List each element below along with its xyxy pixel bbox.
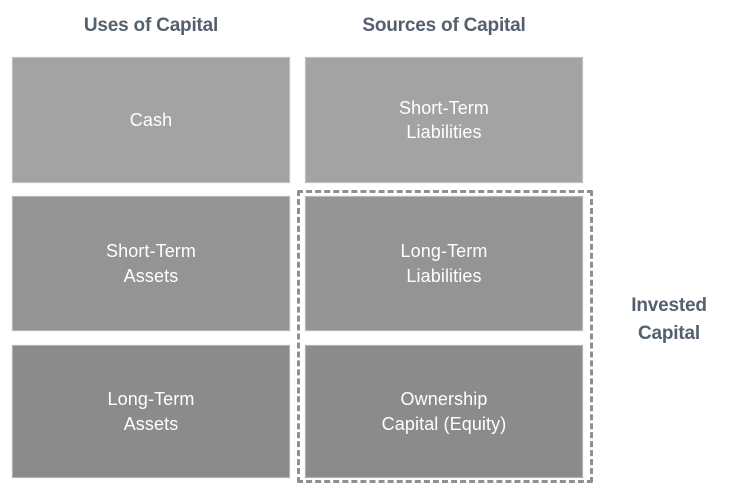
box-long-term-liabilities: Long-Term Liabilities (305, 196, 583, 331)
invested-capital-line1: Invested (631, 295, 707, 316)
column-header-uses-of-capital: Uses of Capital (12, 13, 290, 39)
box-ownership-capital-equity-label: Ownership Capital (Equity) (374, 387, 515, 436)
box-short-term-assets: Short-Term Assets (12, 196, 290, 331)
box-ownership-capital-equity-line2: Capital (Equity) (382, 414, 507, 434)
box-short-term-liabilities-line2: Liabilities (406, 122, 481, 142)
box-ownership-capital-equity-line1: Ownership (401, 389, 488, 409)
box-short-term-liabilities: Short-Term Liabilities (305, 57, 583, 183)
box-short-term-assets-label: Short-Term Assets (98, 239, 204, 288)
box-long-term-assets-label: Long-Term Assets (100, 387, 203, 436)
box-short-term-assets-line1: Short-Term (106, 241, 196, 261)
box-long-term-liabilities-line2: Liabilities (406, 266, 481, 286)
box-short-term-liabilities-line1: Short-Term (399, 98, 489, 118)
box-short-term-assets-line2: Assets (124, 266, 179, 286)
box-ownership-capital-equity: Ownership Capital (Equity) (305, 345, 583, 478)
invested-capital-line2: Capital (638, 323, 700, 344)
box-cash: Cash (12, 57, 290, 183)
box-cash-label: Cash (122, 108, 180, 132)
box-long-term-assets-line1: Long-Term (108, 389, 195, 409)
capital-structure-diagram: Uses of Capital Sources of Capital Cash … (0, 0, 738, 499)
box-long-term-liabilities-line1: Long-Term (401, 241, 488, 261)
box-long-term-assets: Long-Term Assets (12, 345, 290, 478)
box-long-term-liabilities-label: Long-Term Liabilities (393, 239, 496, 288)
box-short-term-liabilities-label: Short-Term Liabilities (391, 96, 497, 145)
invested-capital-annotation: Invested Capital (606, 292, 732, 347)
box-long-term-assets-line2: Assets (124, 414, 179, 434)
column-header-sources-of-capital: Sources of Capital (305, 13, 583, 39)
